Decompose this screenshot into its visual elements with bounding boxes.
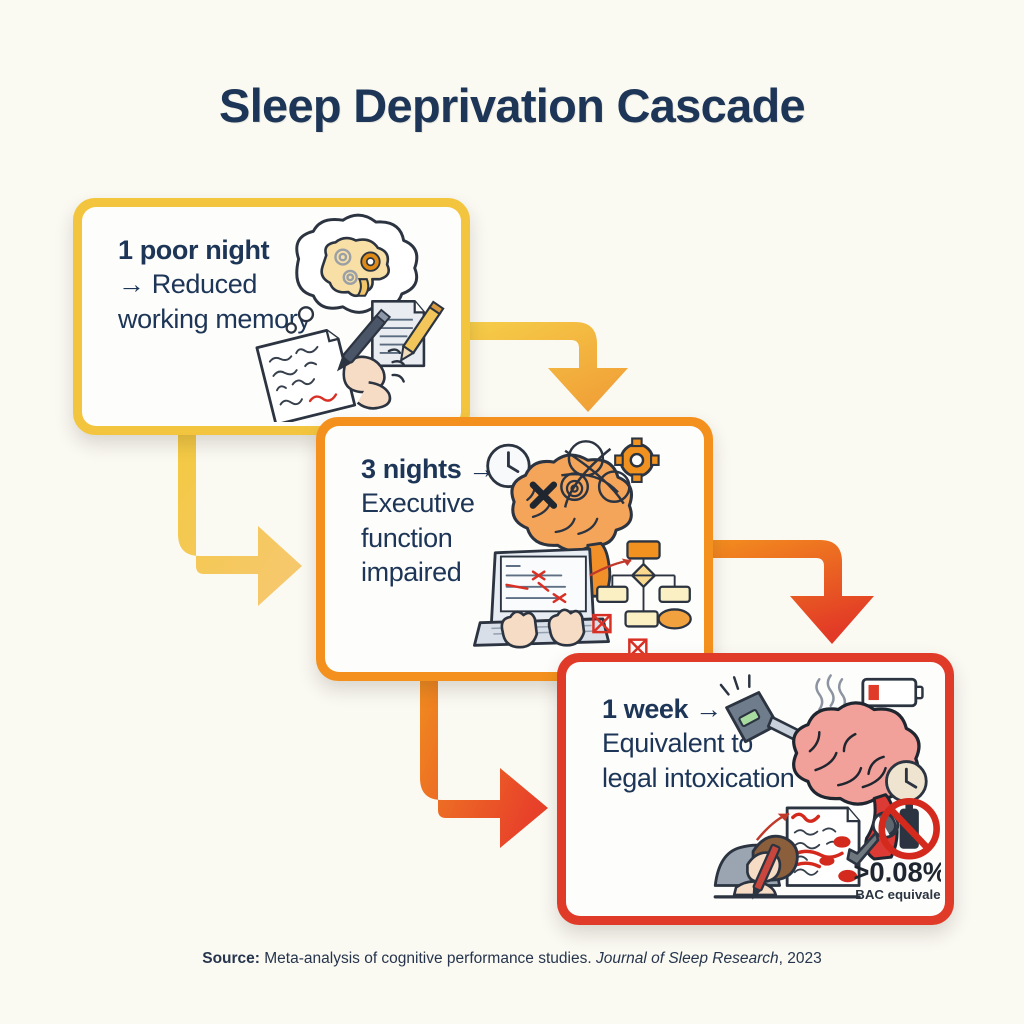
bac-stat-value: >0.08% bbox=[853, 857, 941, 888]
stage-card-one-week[interactable]: 1 week → Equivalent to legal intoxicatio… bbox=[557, 653, 954, 925]
arrow-one-night-to-three-nights-left bbox=[178, 418, 302, 606]
source-description: Meta-analysis of cognitive performance s… bbox=[260, 950, 596, 967]
bac-stat-caption: BAC equivalent bbox=[855, 887, 941, 902]
source-year: , 2023 bbox=[779, 950, 822, 967]
arrow-three-nights-to-one-week-left bbox=[420, 668, 548, 848]
source-footnote: Source: Meta-analysis of cognitive perfo… bbox=[0, 950, 1024, 968]
card-inner-surface: 3 nights → Executive function impaired bbox=[325, 426, 704, 672]
stage-card-one-poor-night[interactable]: 1 poor night → Reduced working memory bbox=[73, 198, 470, 435]
source-journal: Journal of Sleep Research bbox=[596, 950, 779, 967]
arrow-three-nights-to-one-week-top bbox=[690, 540, 874, 644]
thought-bubble-brain-gears-notes-illustration bbox=[225, 211, 457, 422]
low-battery-icon bbox=[863, 679, 923, 705]
source-label: Source: bbox=[202, 950, 260, 967]
card-inner-surface: 1 poor night → Reduced working memory bbox=[82, 207, 461, 426]
breathalyzer-brain-bac-illustration: >0.08% BAC equivalent bbox=[709, 666, 941, 912]
card-three-lead: 1 week → bbox=[602, 694, 722, 724]
orange-brain-laptop-flowchart-illustration bbox=[468, 430, 700, 668]
infographic-canvas: Sleep Deprivation Cascade bbox=[0, 0, 1024, 1024]
card-two-rest: Executive function impaired bbox=[361, 488, 474, 587]
stage-card-three-nights[interactable]: 3 nights → Executive function impaired bbox=[316, 417, 713, 681]
card-inner-surface: 1 week → Equivalent to legal intoxicatio… bbox=[566, 662, 945, 916]
